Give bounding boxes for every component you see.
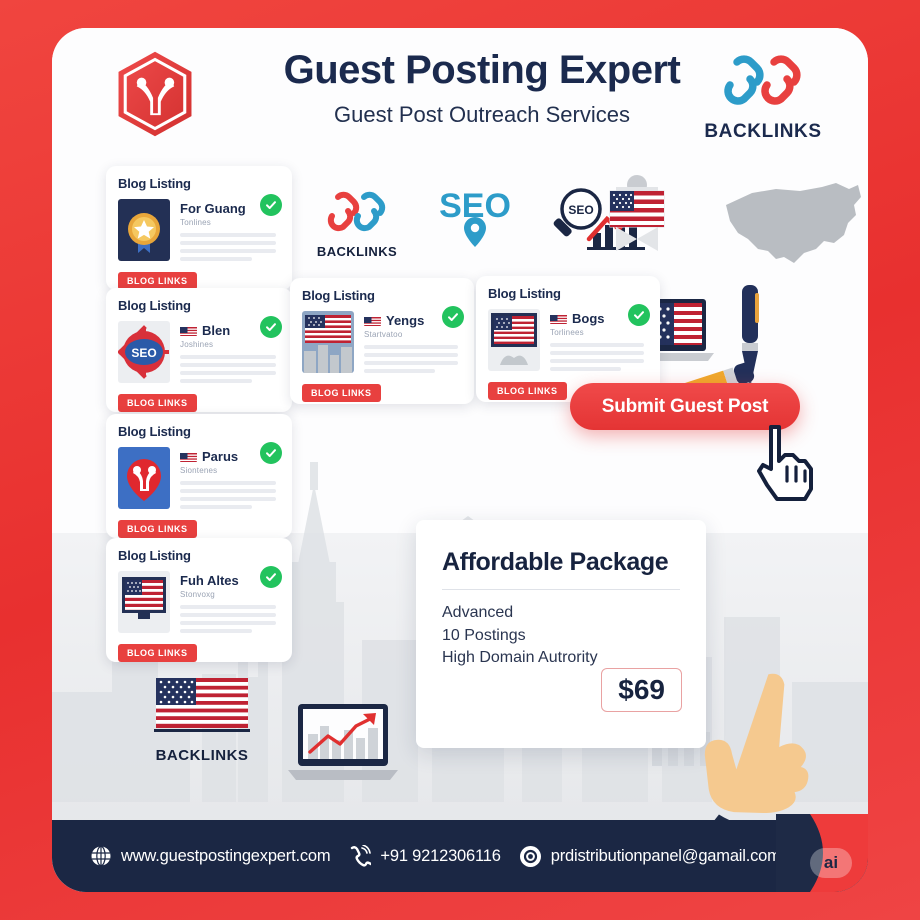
blog-links-button[interactable]: BLOG LINKS bbox=[118, 520, 197, 538]
icon-strip-seo: SEO bbox=[420, 181, 530, 258]
usa-flag-icon bbox=[180, 325, 197, 336]
pricing-card[interactable]: Affordable Package Advanced 10 Postings … bbox=[416, 520, 706, 748]
blog-listing-card[interactable]: Blog Listing bbox=[106, 288, 292, 412]
pricing-amount: $69 bbox=[601, 668, 682, 712]
blog-listing-card[interactable]: Blog Listing bbox=[290, 278, 474, 404]
blog-listing-card[interactable]: Blog Listing For Guang Tonlines bbox=[106, 166, 292, 290]
poster-background: Guest Posting Expert Guest Post Outreach… bbox=[0, 0, 920, 920]
svg-text:SEO: SEO bbox=[568, 203, 593, 217]
chain-links-icon bbox=[324, 187, 390, 237]
flag-city-icon bbox=[302, 311, 354, 373]
blog-card-name: Fuh Altes bbox=[180, 573, 239, 588]
title-block: Guest Posting Expert Guest Post Outreach… bbox=[212, 48, 752, 128]
header-backlinks-label: BACKLINKS bbox=[688, 121, 838, 143]
blog-card-subtitle: Tonlines bbox=[180, 218, 280, 227]
page-title: Guest Posting Expert bbox=[212, 48, 752, 92]
ai-watermark-badge: ai bbox=[810, 848, 852, 878]
header-backlinks-badge: BACKLINKS bbox=[688, 50, 838, 143]
blog-card-name: Yengs bbox=[386, 313, 424, 328]
flag-monitor-icon bbox=[488, 309, 540, 371]
usa-flag-icon bbox=[180, 451, 197, 462]
footer-phone-text: +91 9212306116 bbox=[380, 847, 500, 866]
pricing-feature: Advanced bbox=[442, 602, 680, 625]
blog-card-name: For Guang bbox=[180, 201, 246, 216]
blog-card-text-lines bbox=[180, 233, 280, 261]
header: Guest Posting Expert Guest Post Outreach… bbox=[52, 28, 868, 178]
seo-location-pin-icon: SEO bbox=[422, 181, 528, 253]
seo-badge-icon: SEO bbox=[118, 321, 170, 383]
usa-flag-icon bbox=[364, 315, 381, 326]
blog-card-heading: Blog Listing bbox=[488, 286, 648, 301]
verified-check-icon bbox=[260, 566, 282, 588]
map-pin-logo-icon bbox=[118, 447, 170, 509]
pricing-feature: 10 Postings bbox=[442, 625, 680, 648]
usa-flag-ribbon-icon bbox=[600, 173, 674, 261]
hexagon-brand-logo-icon bbox=[107, 46, 203, 142]
blog-listing-card[interactable]: Blog Listing bbox=[106, 414, 292, 538]
blog-card-subtitle: Torlinees bbox=[550, 328, 648, 337]
footer-email-text: prdistributionpanel@gamail.com bbox=[551, 847, 781, 866]
instagram-icon bbox=[519, 845, 542, 868]
blog-card-text-lines bbox=[180, 481, 280, 509]
blog-card-heading: Blog Listing bbox=[118, 298, 280, 313]
svg-text:SEO: SEO bbox=[131, 346, 156, 360]
icon-strip-backlinks-label: BACKLINKS bbox=[302, 244, 412, 259]
poster-inner-surface: Guest Posting Expert Guest Post Outreach… bbox=[52, 28, 868, 892]
footer-email[interactable]: prdistributionpanel@gamail.com bbox=[519, 845, 781, 868]
phone-icon bbox=[348, 845, 371, 867]
footer-website-text: www.guestpostingexpert.com bbox=[121, 847, 330, 866]
blog-card-subtitle: Stonvoxg bbox=[180, 590, 280, 599]
footer-website[interactable]: www.guestpostingexpert.com bbox=[90, 845, 330, 867]
bottom-backlinks-flag: BACKLINKS bbox=[132, 676, 272, 764]
blog-card-name: Blen bbox=[202, 323, 230, 338]
blog-card-text-lines bbox=[180, 355, 280, 383]
blog-card-text-lines bbox=[550, 343, 648, 371]
globe-icon bbox=[90, 845, 112, 867]
usa-flag-icon bbox=[154, 676, 250, 736]
pointing-hand-cursor-icon bbox=[749, 423, 821, 503]
usa-flag-icon bbox=[550, 313, 567, 324]
pricing-title: Affordable Package bbox=[442, 548, 680, 577]
pricing-feature: High Domain Autrority bbox=[442, 647, 680, 670]
verified-check-icon bbox=[442, 306, 464, 328]
blog-links-button[interactable]: BLOG LINKS bbox=[118, 644, 197, 662]
blog-links-button[interactable]: BLOG LINKS bbox=[302, 384, 381, 402]
chain-links-icon bbox=[717, 50, 809, 112]
usa-map-icon bbox=[718, 179, 868, 271]
bottom-backlinks-label: BACKLINKS bbox=[132, 747, 272, 764]
blog-card-subtitle: Siontenes bbox=[180, 466, 280, 475]
laptop-growth-chart-icon bbox=[284, 700, 402, 790]
blog-card-heading: Blog Listing bbox=[302, 288, 462, 303]
blog-card-text-lines bbox=[180, 605, 280, 633]
verified-check-icon bbox=[628, 304, 650, 326]
blog-card-heading: Blog Listing bbox=[118, 548, 280, 563]
footer-phone[interactable]: +91 9212306116 bbox=[348, 845, 500, 867]
blog-card-heading: Blog Listing bbox=[118, 176, 280, 191]
icon-strip-backlinks: BACKLINKS bbox=[302, 187, 412, 259]
verified-check-icon bbox=[260, 194, 282, 216]
blog-listing-card[interactable]: Blog Listing bbox=[106, 538, 292, 662]
blog-links-button[interactable]: BLOG LINKS bbox=[488, 382, 567, 400]
blog-card-subtitle: Joshines bbox=[180, 340, 280, 349]
blog-card-name: Bogs bbox=[572, 311, 605, 326]
pricing-divider bbox=[442, 589, 680, 590]
blog-links-button[interactable]: BLOG LINKS bbox=[118, 394, 197, 412]
page-subtitle: Guest Post Outreach Services bbox=[212, 102, 752, 128]
blog-card-text-lines bbox=[364, 345, 462, 373]
blog-card-subtitle: Startvatoo bbox=[364, 330, 462, 339]
verified-check-icon bbox=[260, 442, 282, 464]
verified-check-icon bbox=[260, 316, 282, 338]
footer: www.guestpostingexpert.com +91 921230611… bbox=[52, 820, 868, 892]
flag-laptop-icon bbox=[118, 571, 170, 633]
blog-card-name: Parus bbox=[202, 449, 238, 464]
blog-card-heading: Blog Listing bbox=[118, 424, 280, 439]
award-medal-icon bbox=[118, 199, 170, 261]
